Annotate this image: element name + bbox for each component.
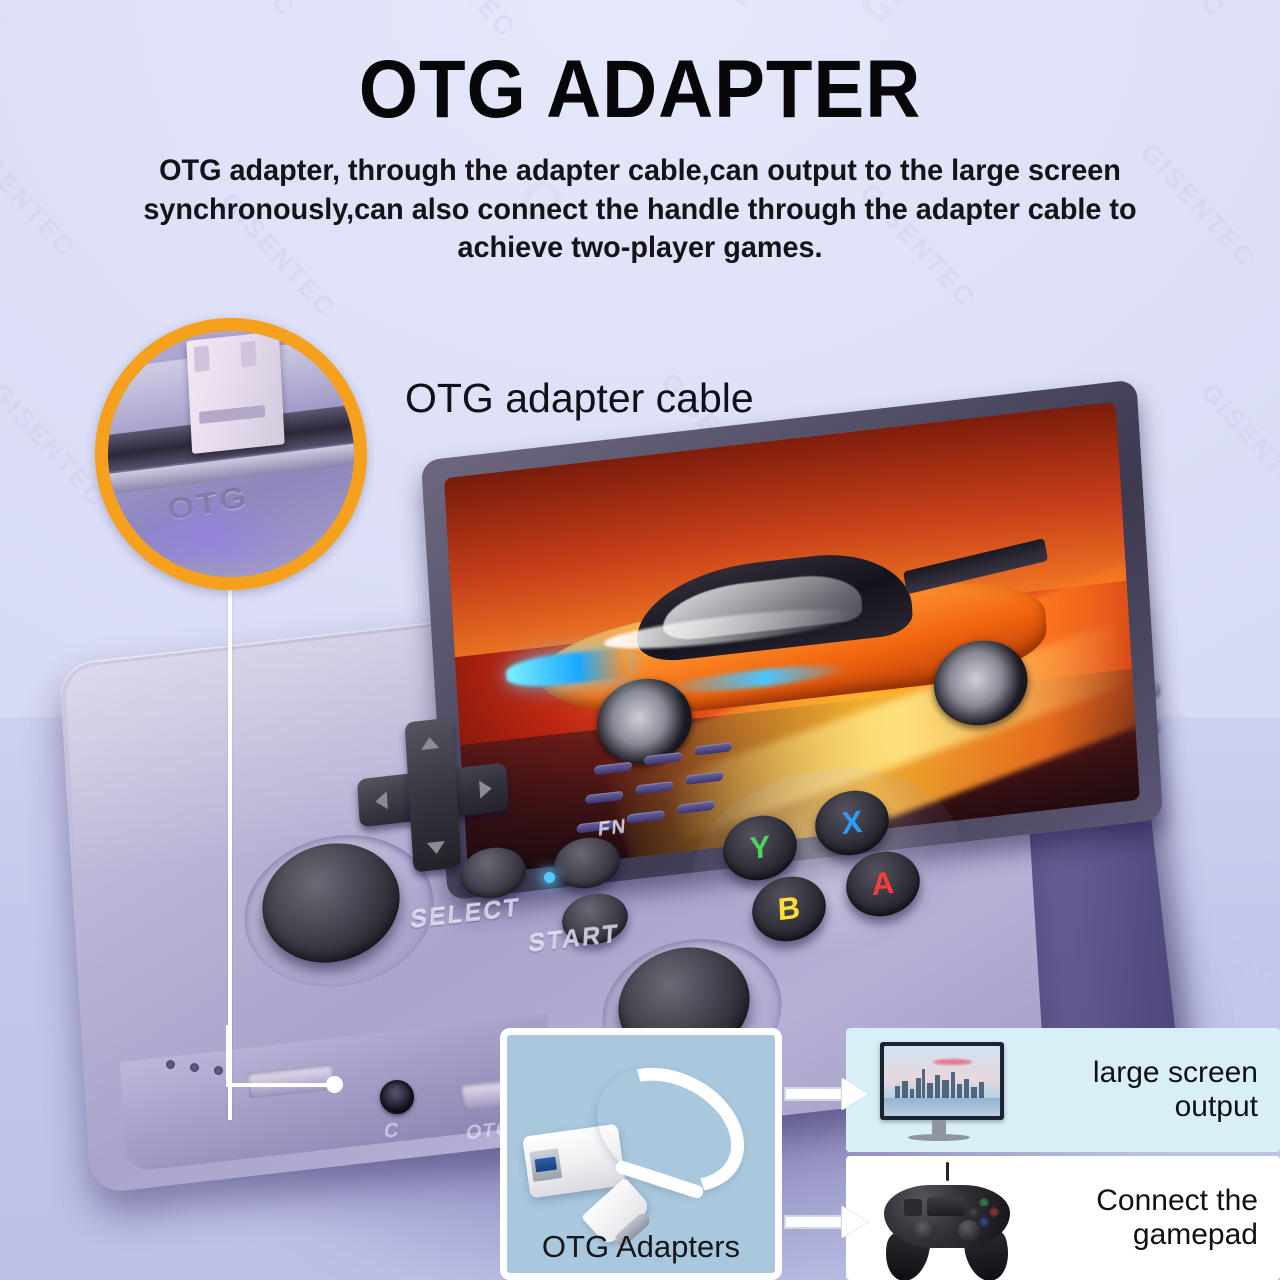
edge-screw — [166, 1060, 175, 1069]
otg-callout: OTG OTG adapter cable — [95, 318, 367, 590]
power-led — [544, 872, 555, 883]
large-screen-output-panel: large screen output — [846, 1028, 1280, 1152]
dpad-left-icon — [374, 791, 387, 810]
dpad-down-icon — [427, 840, 446, 854]
otg-callout-circle: OTG — [95, 318, 367, 590]
cable-arc — [575, 1043, 766, 1217]
headphone-jack — [380, 1080, 414, 1114]
connect-gamepad-panel: Connect the gamepad — [846, 1156, 1280, 1280]
large-screen-caption: large screen output — [1034, 1056, 1280, 1123]
dpad-up-icon — [420, 736, 439, 750]
header: OTG ADAPTER OTG adapter, through the ada… — [0, 0, 1280, 268]
otg-panel-caption: OTG Adapters — [507, 1229, 775, 1265]
gamepad-illustration — [846, 1156, 1034, 1280]
arrow-to-gamepad-icon — [784, 1206, 874, 1238]
gamepad-caption: Connect the gamepad — [1034, 1184, 1280, 1251]
page-subtitle: OTG adapter, through the adapter cable,c… — [107, 152, 1173, 267]
dpad-right-icon — [479, 779, 492, 798]
otg-port-closeup-image: OTG — [108, 331, 354, 577]
monitor-illustration — [846, 1028, 1034, 1152]
fn-label: FN — [597, 816, 628, 842]
arrow-to-large-screen-icon — [784, 1078, 874, 1110]
large-screen-caption-line1: large screen — [1093, 1056, 1258, 1089]
edge-screw — [190, 1063, 199, 1072]
otg-adapter-panel: OTG Adapters — [500, 1028, 782, 1280]
watermark: G — [0, 695, 8, 768]
large-screen-caption-line2: output — [1175, 1090, 1258, 1123]
headphone-jack-label: C — [383, 1119, 401, 1144]
otg-callout-label: OTG adapter cable — [405, 375, 754, 422]
otg-port-pointer-dot — [326, 1076, 343, 1093]
gamepad-caption-line1: Connect the — [1096, 1184, 1258, 1217]
page-title: OTG ADAPTER — [45, 50, 1235, 130]
gamepad-caption-line2: gamepad — [1133, 1218, 1258, 1251]
otg-port-pointer-bracket — [226, 1025, 334, 1087]
edge-screw — [214, 1066, 223, 1075]
